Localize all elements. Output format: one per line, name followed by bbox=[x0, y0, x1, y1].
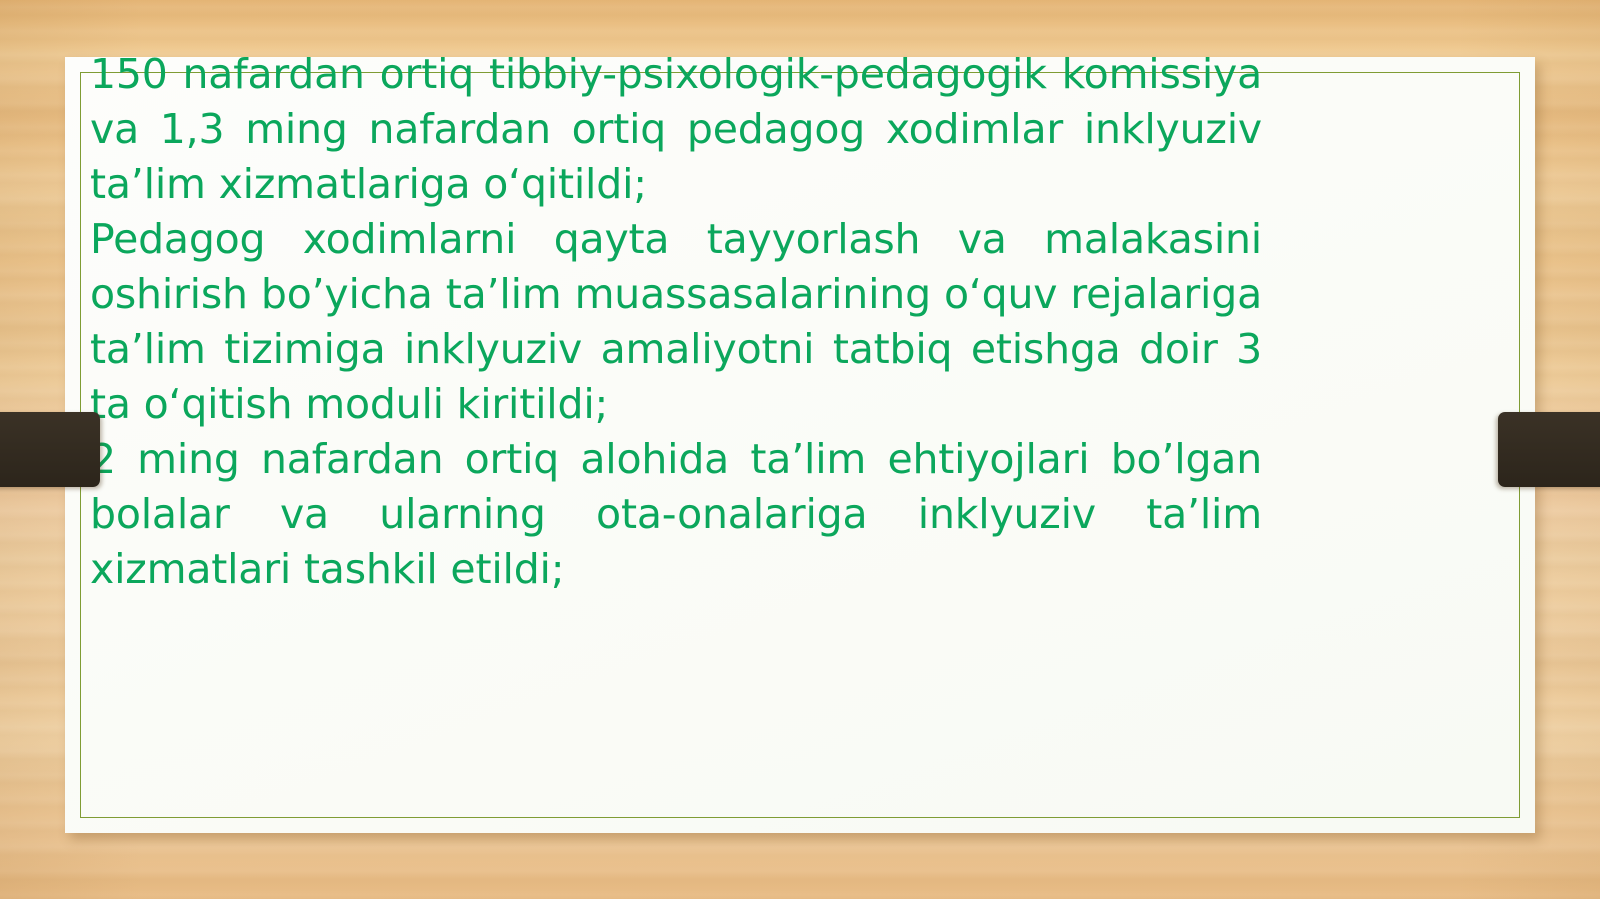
slide-body-text: 150 nafardan ortiq tibbiy-psixologik-ped… bbox=[90, 47, 1262, 597]
paragraph-1: 150 nafardan ortiq tibbiy-psixologik-ped… bbox=[90, 47, 1262, 212]
decorative-ribbon-right bbox=[1498, 412, 1600, 487]
paragraph-3: 2 ming nafardan ortiq alohida ta’lim eht… bbox=[90, 432, 1262, 597]
slide-root: 150 nafardan ortiq tibbiy-psixologik-ped… bbox=[0, 0, 1600, 899]
paragraph-2: Pedagog xodimlarni qayta tayyorlash va m… bbox=[90, 212, 1262, 432]
decorative-ribbon-left bbox=[0, 412, 100, 487]
